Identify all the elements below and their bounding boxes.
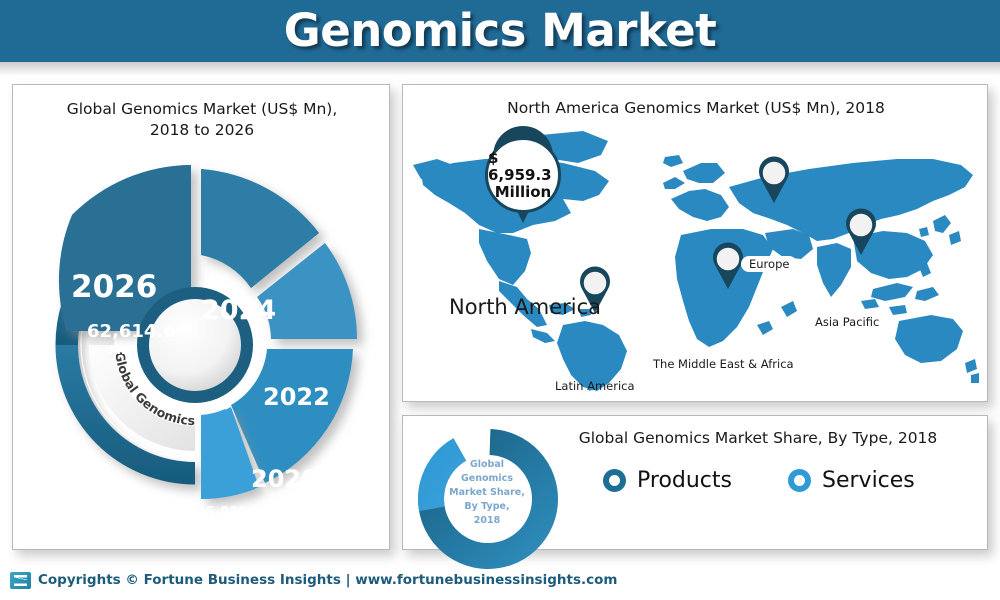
world-map: $ 6,959.3 Million <box>413 129 979 391</box>
legend-label-products: Products <box>637 468 732 493</box>
infographic-root: Genomics Market Global Genomics Market (… <box>0 0 1000 600</box>
legend-label-services: Services <box>822 468 915 493</box>
fan-hub-face <box>149 299 241 391</box>
fortune-business-insights-logo-icon <box>10 572 31 589</box>
share-donut-chart: Global Genomics Market Share, By Type, 2… <box>413 424 563 574</box>
map-pin-asia-pacific[interactable] <box>843 207 879 255</box>
panel-title-market-share: Global Genomics Market Share, By Type, 2… <box>543 428 973 449</box>
legend-ring-products-icon <box>603 469 626 492</box>
legend-ring-services-icon <box>788 469 811 492</box>
map-label-middle-east-africa: The Middle East & Africa <box>653 357 794 371</box>
map-pin-europe[interactable] <box>756 155 792 203</box>
page-title: Genomics Market <box>0 4 1000 57</box>
panel-market-share-by-type: Global Genomics Market Share, By Type, 2… <box>402 415 988 550</box>
callout-value: $ 6,959.3 <box>488 150 558 184</box>
legend-item-services[interactable]: Services <box>788 468 915 493</box>
fan-chart: Global Genomics Market <box>19 143 385 543</box>
footer-copyright-text: Copyrights © Fortune Business Insights |… <box>38 572 617 588</box>
map-callout-north-america-value: $ 6,959.3 Million <box>485 137 561 213</box>
map-label-europe: Europe <box>741 256 797 272</box>
panel-title-line-2: 2018 to 2026 <box>27 120 377 141</box>
panel-title-north-america: North America Genomics Market (US$ Mn), … <box>423 98 969 119</box>
map-label-asia-pacific: Asia Pacific <box>815 315 879 329</box>
map-label-north-america: North America <box>449 295 601 319</box>
legend-item-products[interactable]: Products <box>603 468 732 493</box>
footer: Copyrights © Fortune Business Insights |… <box>0 560 1000 600</box>
panel-global-market: Global Genomics Market (US$ Mn), 2018 to… <box>12 84 390 550</box>
map-label-latin-america: Latin America <box>555 379 635 393</box>
callout-unit: Million <box>495 184 551 201</box>
panel-title-line-1: Global Genomics Market (US$ Mn), <box>27 99 377 120</box>
panel-north-america-market: North America Genomics Market (US$ Mn), … <box>402 84 988 402</box>
panel-title-global-market: Global Genomics Market (US$ Mn), 2018 to… <box>27 99 377 141</box>
